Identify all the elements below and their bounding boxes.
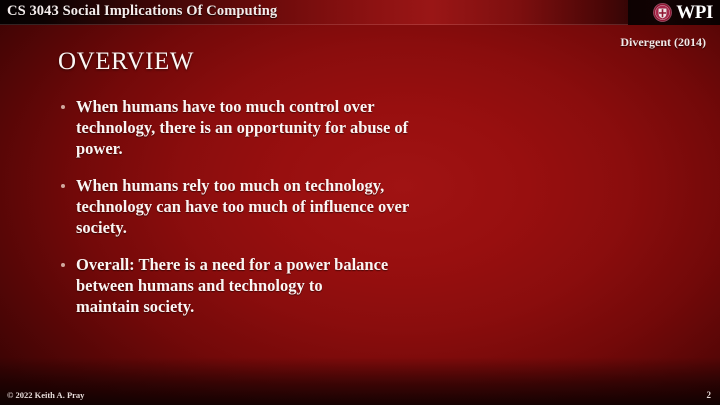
page-number: 2: [707, 390, 712, 400]
course-title: CS 3043 Social Implications Of Computing: [7, 3, 277, 20]
bullet-dot-icon: [61, 105, 65, 109]
footer-copyright: © 2022 Keith A. Pray: [7, 390, 84, 400]
wpi-wordmark: WPI: [676, 3, 713, 22]
slide-header-band: CS 3043 Social Implications Of Computing: [0, 0, 720, 25]
list-item-text: When humans have too much control over t…: [76, 96, 558, 159]
bullet-list: When humans have too much control over t…: [58, 96, 558, 317]
bullet-dot-icon: [61, 184, 65, 188]
bullet-dot-icon: [61, 263, 65, 267]
source-attribution: Divergent (2014): [620, 35, 706, 50]
presentation-slide: CS 3043 Social Implications Of Computing…: [0, 0, 720, 405]
footer-shade: [0, 357, 720, 405]
list-item: When humans rely too much on technology,…: [58, 175, 558, 238]
wpi-seal-icon: [653, 3, 672, 22]
slide-title: OVERVIEW: [58, 48, 194, 76]
list-item: When humans have too much control over t…: [58, 96, 558, 159]
list-item-text: When humans rely too much on technology,…: [76, 175, 558, 238]
wpi-logo: WPI: [628, 0, 720, 25]
list-item: Overall: There is a need for a power bal…: [58, 254, 558, 317]
list-item-text: Overall: There is a need for a power bal…: [76, 254, 558, 317]
